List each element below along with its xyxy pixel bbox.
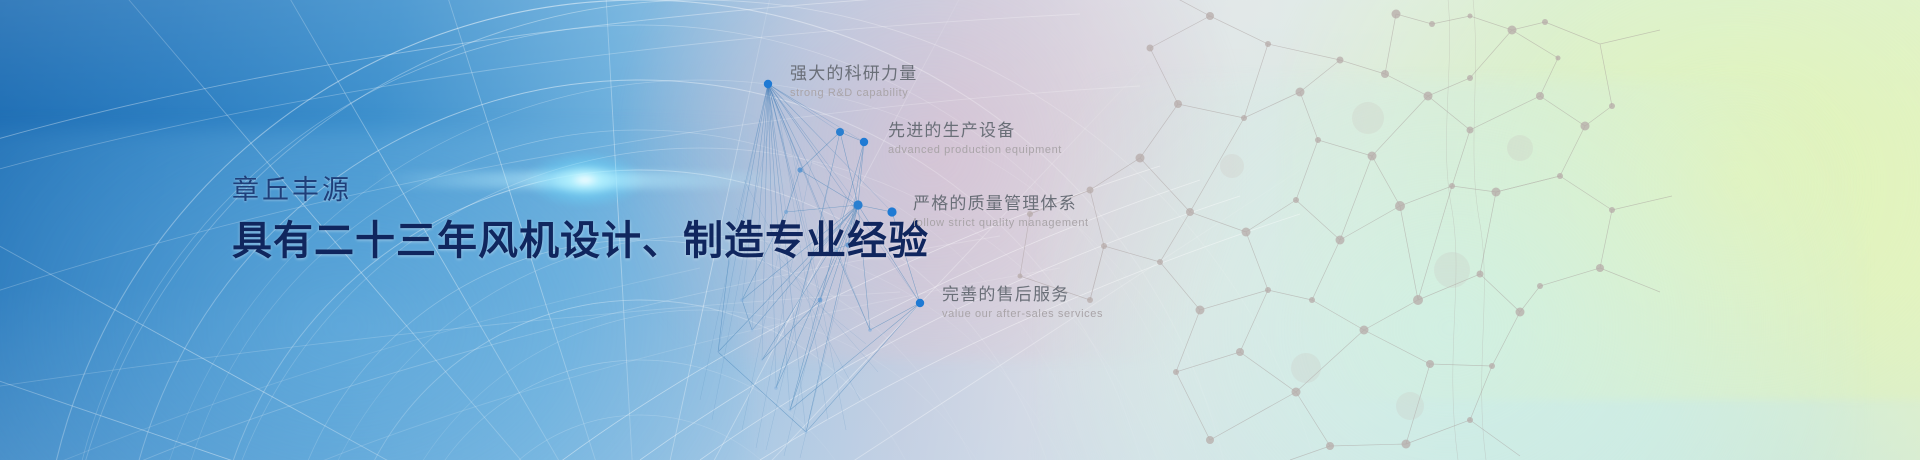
feature-item-rd: 强大的科研力量 strong R&D capability [790,63,917,101]
feature-label-cn: 完善的售后服务 [942,284,1103,307]
brand-subtitle: 章丘丰源 [232,176,929,206]
hero-banner: 章丘丰源 具有二十三年风机设计、制造专业经验 强大的科研力量 strong R&… [0,0,1920,460]
feature-label-en: advanced production equipment [888,143,1062,158]
page-title: 具有二十三年风机设计、制造专业经验 [232,218,929,264]
feature-label-en: value our after-sales services [942,307,1103,322]
feature-label-cn: 强大的科研力量 [790,63,917,86]
mint-bloom-glow [1040,80,1860,460]
feature-item-service: 完善的售后服务 value our after-sales services [942,284,1103,322]
feature-item-equipment: 先进的生产设备 advanced production equipment [888,120,1062,158]
headline-block: 章丘丰源 具有二十三年风机设计、制造专业经验 [232,176,929,264]
feature-label-cn: 严格的质量管理体系 [913,193,1089,216]
feature-label-en: follow strict quality management [913,216,1089,231]
feature-label-cn: 先进的生产设备 [888,120,1062,143]
feature-item-quality: 严格的质量管理体系 follow strict quality manageme… [913,193,1089,231]
feature-label-en: strong R&D capability [790,86,917,101]
